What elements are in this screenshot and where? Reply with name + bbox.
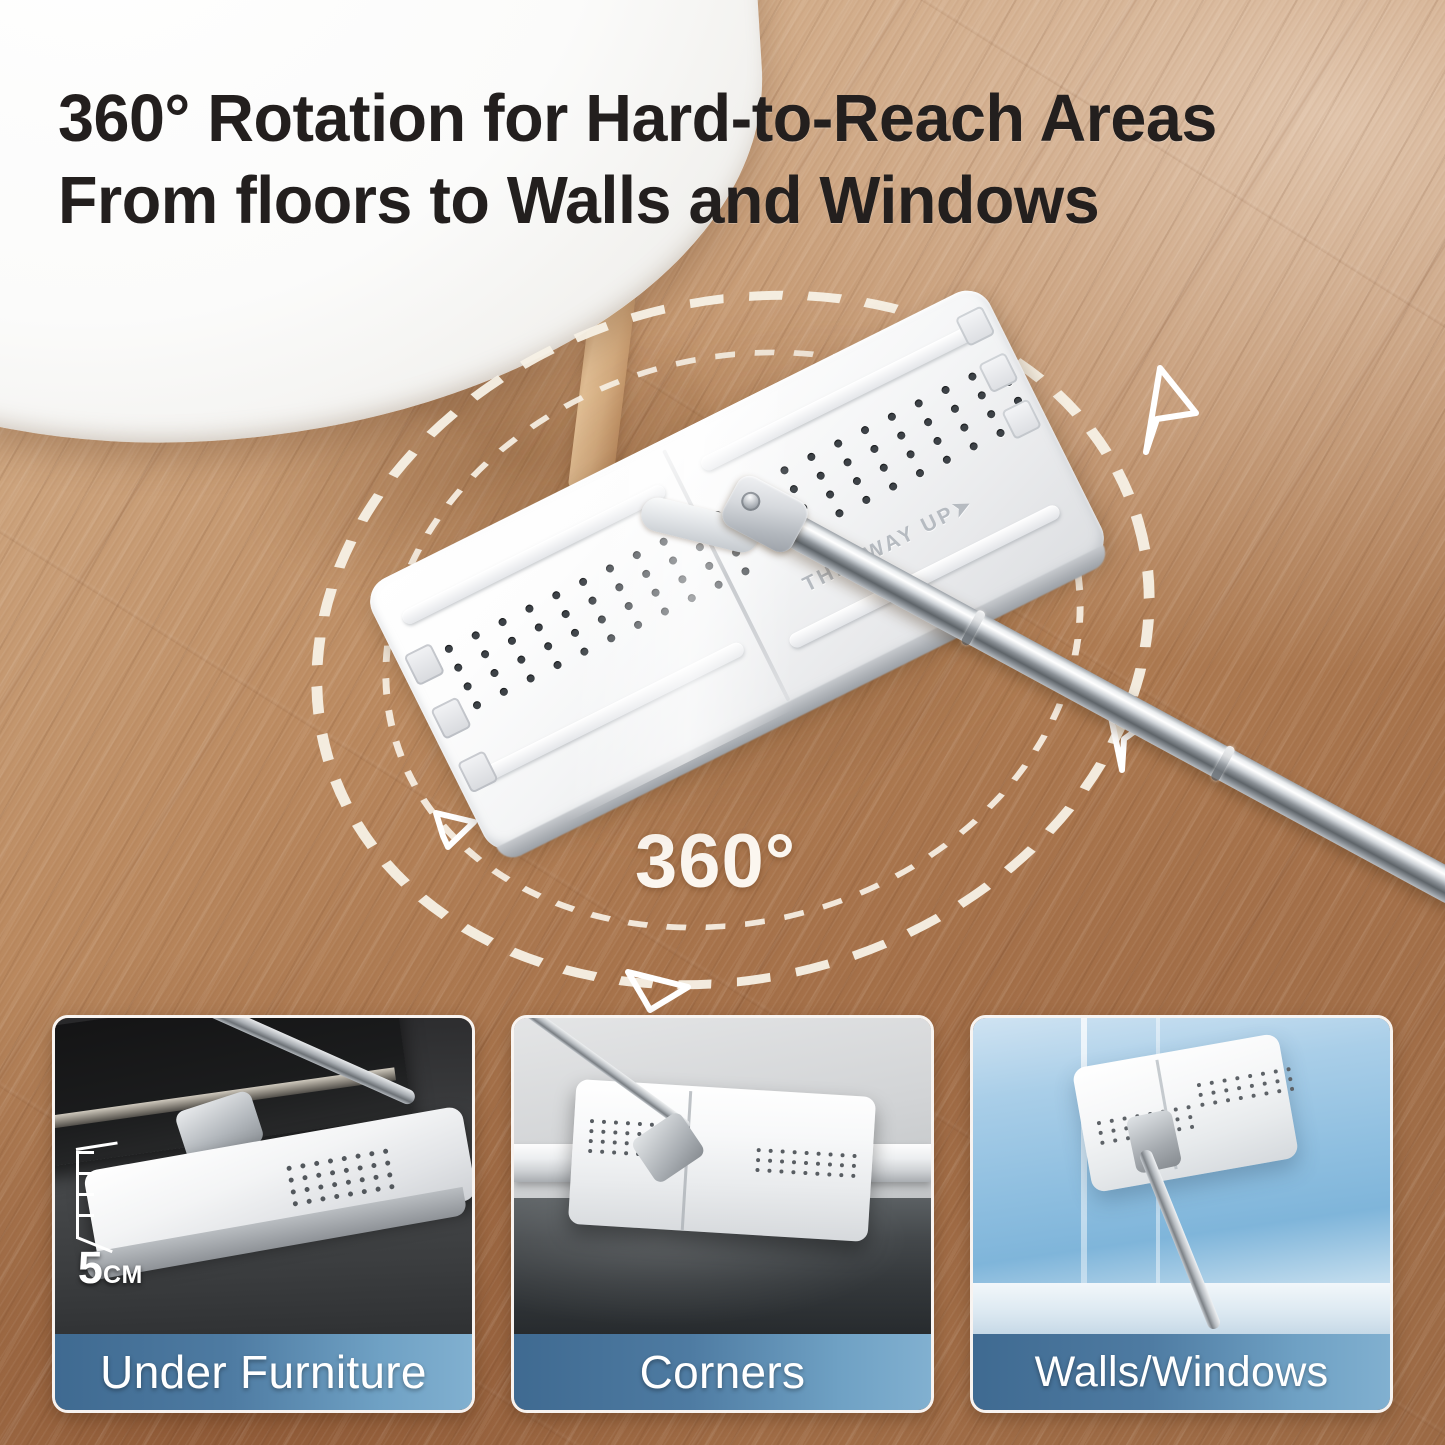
walls-windows-photo	[973, 1018, 1390, 1334]
measurement-unit: CM	[103, 1261, 143, 1289]
use-case-card-under-furniture[interactable]: 5CM Under Furniture	[52, 1015, 475, 1413]
headline-line-2: From floors to Walls and Windows	[58, 160, 1351, 242]
use-case-thumbnail-strip: 5CM Under Furniture	[0, 1015, 1445, 1445]
height-measurement-label: 5CM	[78, 1245, 143, 1290]
caption-walls-windows: Walls/Windows	[973, 1334, 1390, 1410]
measurement-value: 5	[78, 1242, 103, 1293]
use-case-card-corners[interactable]: Corners	[511, 1015, 934, 1413]
window-sill	[973, 1283, 1390, 1334]
under-furniture-photo: 5CM	[55, 1018, 472, 1334]
product-feature-poster: 360° Rotation for Hard-to-Reach Areas Fr…	[0, 0, 1445, 1445]
headline-block: 360° Rotation for Hard-to-Reach Areas Fr…	[58, 78, 1398, 241]
ruler-icon	[76, 1151, 102, 1239]
caption-corners: Corners	[514, 1334, 931, 1410]
use-case-card-walls-windows[interactable]: Walls/Windows	[970, 1015, 1393, 1413]
corners-photo	[514, 1018, 931, 1334]
headline-line-1: 360° Rotation for Hard-to-Reach Areas	[58, 78, 1351, 160]
caption-under-furniture: Under Furniture	[55, 1334, 472, 1410]
